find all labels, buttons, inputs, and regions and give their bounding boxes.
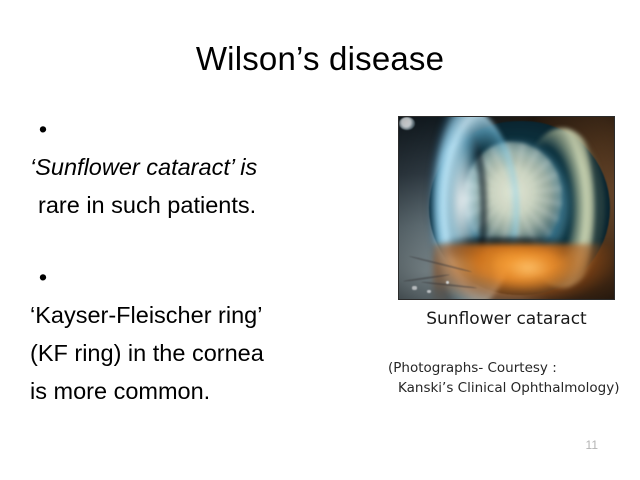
slide-canvas: Wilson’s disease • ‘Sunflower cataract’ … [0,0,640,480]
photo-credit-line-2: Kanski’s Clinical Ophthalmology) [388,378,636,398]
bullet-line: is more common. [30,372,370,410]
list-item: • ‘Sunflower cataract’ is rare in such p… [30,110,370,224]
slide-number: 11 [586,438,598,452]
photo-credit: (Photographs- Courtesy : Kanski’s Clinic… [388,358,636,398]
bullet-list: • ‘Sunflower cataract’ is rare in such p… [30,110,370,410]
bullet-line: (KF ring) in the cornea [30,334,370,372]
bullet-line: ‘Kayser-Fleischer ring’ [30,296,370,334]
photo-layer-vignette [399,117,614,299]
bullet-text: ‘Sunflower cataract’ is rare in such pat… [30,116,370,224]
bullet-marker-icon: • [36,258,50,296]
list-item: • ‘Kayser-Fleischer ring’ (KF ring) in t… [30,258,370,410]
photo-credit-line-1: (Photographs- Courtesy : [388,358,636,378]
bullet-text: ‘Kayser-Fleischer ring’ (KF ring) in the… [30,264,370,410]
bullet-line: rare in such patients. [30,186,370,224]
bullet-marker-icon: • [36,110,50,148]
bullet-line: ‘Sunflower cataract’ is [30,148,370,186]
photo-caption: Sunflower cataract [399,308,614,330]
page-title: Wilson’s disease [0,40,640,78]
sunflower-cataract-photo [399,117,614,299]
